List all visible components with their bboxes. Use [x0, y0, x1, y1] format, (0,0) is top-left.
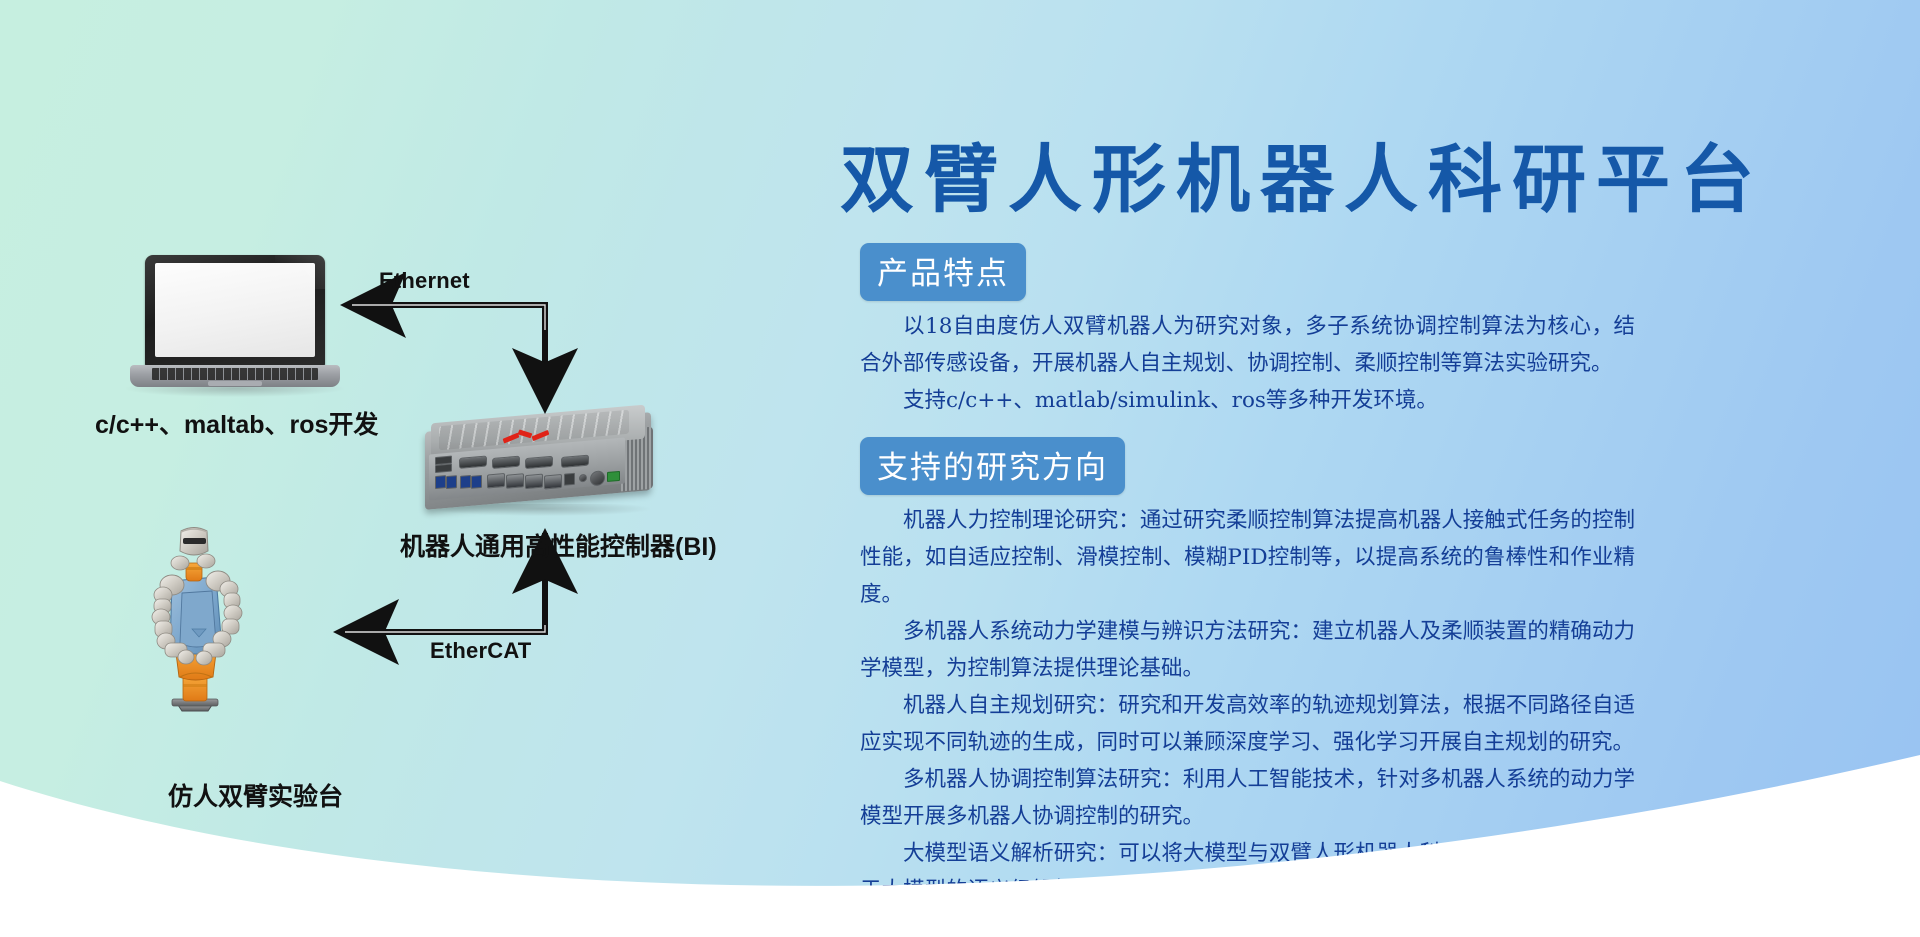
industrial-controller-illustration — [425, 408, 665, 518]
poster-content: 双臂人形机器人科研平台 产品特点 以18自由度仿人双臂机器人为研究对象，多子系统… — [840, 0, 1920, 937]
ethernet-label: Ethernet — [379, 268, 470, 294]
hdmi-port — [564, 473, 575, 486]
laptop-trackpad — [208, 381, 262, 386]
paragraph: 多机器人系统动力学建模与辨识方法研究：建立机器人及柔顺装置的精确动力学模型，为控… — [860, 613, 1635, 687]
paragraph: 机器人力控制理论研究：通过研究柔顺控制算法提高机器人接触式任务的控制性能，如自适… — [860, 502, 1635, 613]
ethernet-rj45-port — [544, 474, 562, 490]
system-architecture-diagram: c/c++、maltab、ros开发 Ethernet 机器人通用高性能控制器(… — [0, 0, 700, 937]
ethernet-rj45-port — [506, 473, 524, 489]
humanoid-robot-illustration — [150, 525, 310, 715]
research-directions-body: 机器人力控制理论研究：通过研究柔顺控制算法提高机器人接触式任务的控制性能，如自适… — [860, 502, 1635, 909]
usb3-port — [471, 475, 482, 489]
laptop-keyboard — [152, 368, 318, 380]
product-features-body: 以18自由度仿人双臂机器人为研究对象，多子系统协调控制算法为核心，结合外部传感设… — [860, 308, 1635, 419]
ethernet-rj45-port — [525, 474, 543, 490]
badge-product-features: 产品特点 — [860, 243, 1026, 301]
page-title: 双臂人形机器人科研平台 — [840, 120, 1840, 227]
laptop-label: c/c++、maltab、ros开发 — [95, 405, 378, 441]
serial-db9-port — [561, 455, 589, 468]
usb3-port — [435, 475, 446, 489]
ethernet-rj45-port — [487, 473, 505, 489]
laptop-screen-glare — [275, 255, 325, 289]
usb3-port — [460, 475, 471, 489]
serial-db9-port — [459, 455, 487, 468]
serial-db9-port — [525, 456, 553, 469]
laptop-illustration — [130, 255, 340, 395]
robot-label: 仿人双臂实验台 — [168, 777, 343, 813]
paragraph: 大模型语义解析研究：可以将大模型与双臂人形机器人科研平台结合，开展基于大模型的语… — [860, 835, 1635, 909]
section-header-research-directions: 支持的研究方向 — [860, 437, 1125, 495]
controller-label: 机器人通用高性能控制器(BI) — [400, 527, 717, 563]
usb3-port — [446, 475, 457, 489]
paragraph: 多机器人协调控制算法研究：利用人工智能技术，针对多机器人系统的动力学模型开展多机… — [860, 761, 1635, 835]
section-header-product-features: 产品特点 — [860, 243, 1026, 301]
power-connector — [590, 470, 605, 486]
paragraph: 以18自由度仿人双臂机器人为研究对象，多子系统协调控制算法为核心，结合外部传感设… — [860, 308, 1635, 382]
poster-canvas: c/c++、maltab、ros开发 Ethernet 机器人通用高性能控制器(… — [0, 0, 1920, 937]
paragraph: 支持c/c++、matlab/simulink、ros等多种开发环境。 — [860, 382, 1635, 419]
robot-svg — [150, 525, 310, 715]
ethercat-label: EtherCAT — [430, 638, 531, 664]
terminal-block — [607, 471, 620, 482]
usb-port — [435, 464, 452, 473]
ethernet-arrow — [352, 305, 545, 398]
paragraph: 机器人自主规划研究：研究和开发高效率的轨迹规划算法，根据不同路径自适应实现不同轨… — [860, 687, 1635, 761]
serial-db9-port — [492, 456, 520, 469]
laptop-lid — [145, 255, 325, 367]
badge-research-directions: 支持的研究方向 — [860, 437, 1125, 495]
audio-jack — [579, 474, 587, 483]
